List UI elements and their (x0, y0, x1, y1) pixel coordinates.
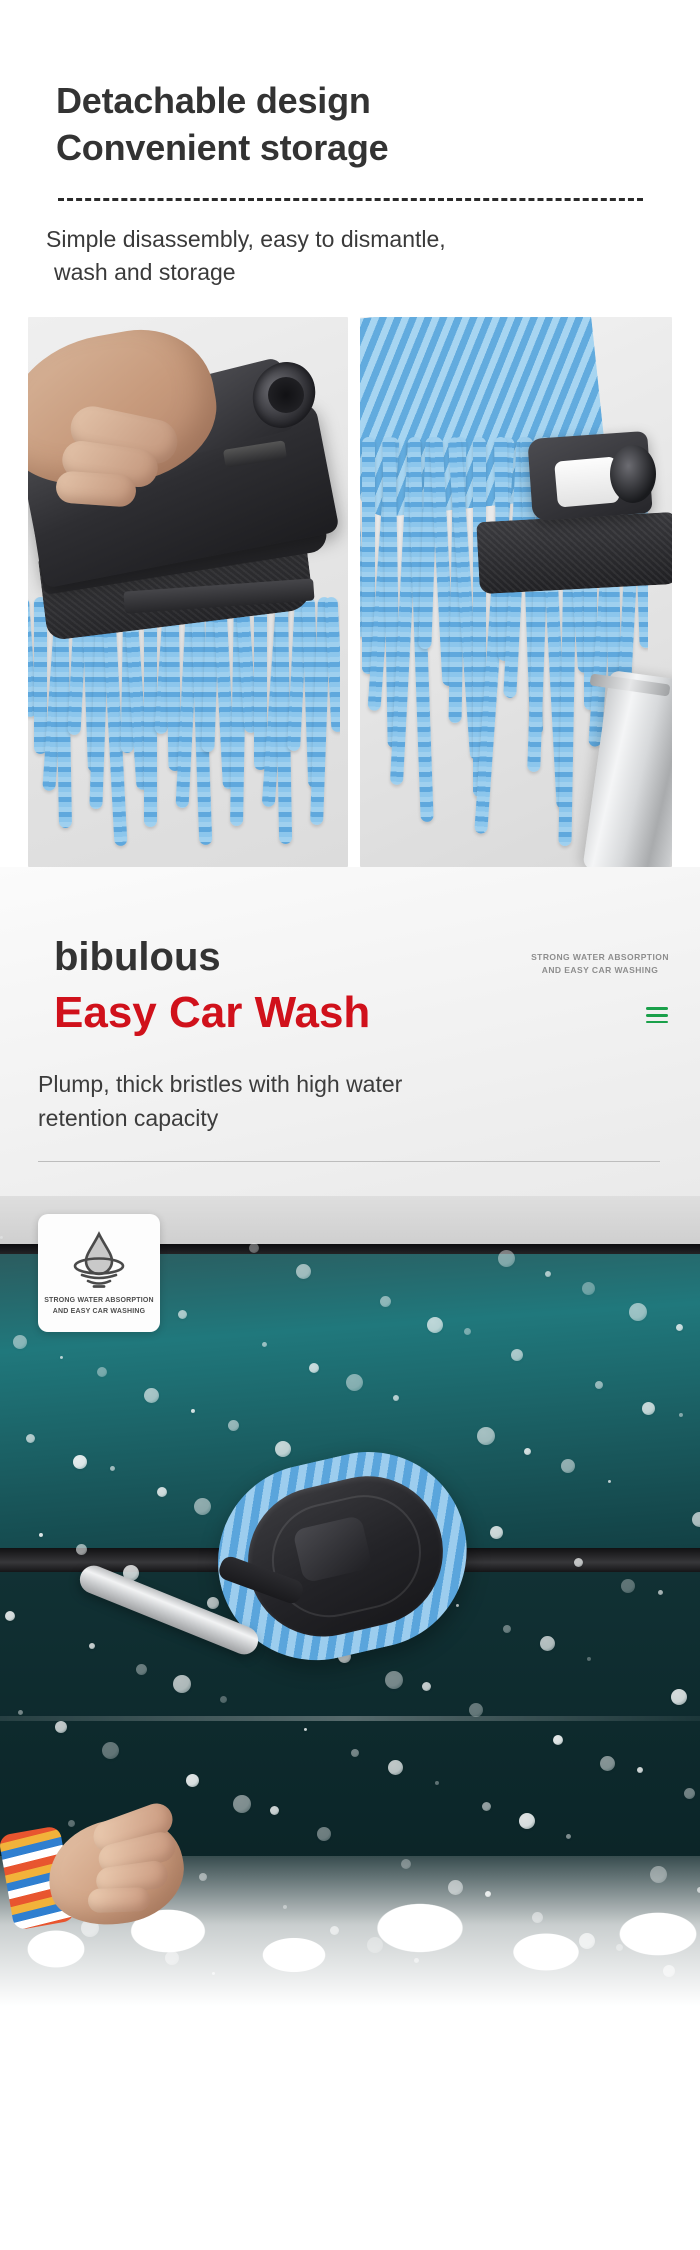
section1-heading-line1: Detachable design (56, 78, 700, 125)
section2-subtitle-line1: Plump, thick bristles with high water (38, 1067, 638, 1101)
photo-car-wash-in-action: STRONG WATER ABSORPTION AND EASY CAR WAS… (0, 1196, 700, 2006)
section1-heading-line2: Convenient storage (56, 125, 700, 172)
microcopy-line1: STRONG WATER ABSORPTION (520, 951, 680, 964)
section1-subtitle-line1: Simple disassembly, easy to dismantle, (46, 223, 700, 256)
section2-subtitle: Plump, thick bristles with high water re… (38, 1067, 638, 1135)
section2-subtitle-line2: retention capacity (38, 1101, 638, 1135)
hamburger-menu-icon[interactable] (646, 1007, 668, 1023)
hamburger-bar (646, 1007, 668, 1010)
hamburger-bar (646, 1014, 668, 1017)
section-detachable-design: Detachable design Convenient storage Sim… (0, 0, 700, 867)
feature-badge: STRONG WATER ABSORPTION AND EASY CAR WAS… (38, 1214, 160, 1332)
user-hand (28, 1804, 218, 1954)
microcopy-line2: AND EASY CAR WASHING (520, 964, 680, 977)
product-detail-page: Detachable design Convenient storage Sim… (0, 0, 700, 2006)
badge-caption-line2: AND EASY CAR WASHING (38, 1307, 160, 1318)
socket-bore (610, 445, 656, 503)
section2-title-red: Easy Car Wash (54, 988, 700, 1037)
section1-photo-row (0, 317, 700, 867)
section1-subtitle: Simple disassembly, easy to dismantle, w… (46, 223, 700, 290)
badge-caption-line1: STRONG WATER ABSORPTION (38, 1296, 160, 1307)
dashed-divider (58, 198, 643, 201)
body-crease-highlight (0, 1716, 700, 1721)
hand-finger (88, 1887, 151, 1913)
section1-heading: Detachable design Convenient storage (56, 78, 700, 172)
hamburger-bar (646, 1021, 668, 1024)
photo-mop-head-and-pole (360, 317, 672, 867)
mesh-pad (476, 512, 672, 594)
water-drop-icon (63, 1228, 135, 1290)
photo-hand-detaching-mop-head (28, 317, 348, 867)
section-bibulous-easy-car-wash: bibulous Easy Car Wash STRONG WATER ABSO… (0, 867, 700, 2006)
thin-divider (38, 1161, 660, 1162)
microfiber-fringe (28, 597, 340, 867)
foam-droplet (0, 1236, 3, 1239)
section2-microcopy: STRONG WATER ABSORPTION AND EASY CAR WAS… (520, 951, 680, 977)
hand-finger (55, 471, 137, 509)
section1-subtitle-line2: wash and storage (46, 256, 700, 289)
badge-caption: STRONG WATER ABSORPTION AND EASY CAR WAS… (38, 1296, 160, 1317)
